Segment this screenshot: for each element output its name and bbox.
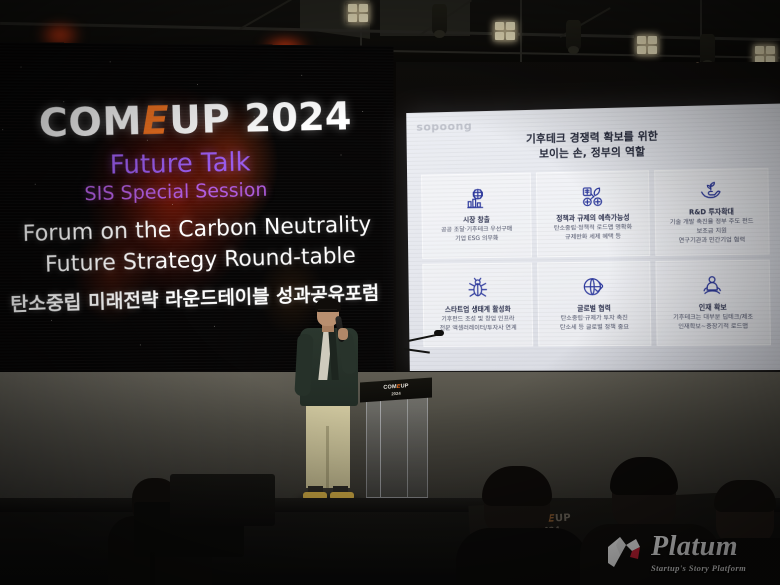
slide-card: 정책과 규제의 예측가능성 탄소중립·정책적 로드맵 명확화 규제완화 세제 혜… [536,170,650,257]
comeup-logo-accent-letter: E [141,98,169,144]
slide-card: 글로벌 협력 탄소중립·규제가 투자 촉진 탄소세 등 글로벌 정책 중요 [537,261,651,347]
slide-card-line: 규제완화 세제 혜택 등 [565,233,621,243]
slide-card-line: 전문 액셀러레이터/투자사 연계 [440,324,517,333]
stage-light [752,44,778,62]
person-talent-icon [701,273,724,298]
slide-card-title: 정책과 규제의 예측가능성 [556,212,629,223]
audience-member [460,470,580,585]
slide-card-line: 탄소세 등 글로벌 정책 중요 [560,323,629,332]
comeup-logo-prefix: COM [38,99,142,147]
forum-title-line-2: Future Strategy Round-table [45,244,356,278]
stage-scene: COMEUP 2024 Future Talk SIS Special Sess… [0,0,780,585]
forum-title-line-1: Forum on the Carbon Neutrality [22,212,371,247]
slide-card-line: 인재확보~중장기적 로드맵 [678,322,748,332]
slide-card: R&D 투자확대 기술 개발 촉진을 정부 주도 펀드 보조금 지원 연구기관과… [654,168,770,256]
presentation-screen: sopoong 기후테크 경쟁력 확보를 위한 보이는 손, 정부의 역할 [406,104,780,371]
tripod-leg [150,552,155,585]
comeup-logo-year: 2024 [244,95,352,142]
slide-card-title: 스타트업 생태계 활성화 [445,303,511,314]
future-talk-title: Future Talk [109,147,251,180]
slide-card-title: 시장 창출 [463,214,490,224]
camera-monitor-box [170,474,275,526]
podium-plate-suffix: UP [401,383,409,390]
podium-plate-prefix: COM [383,384,396,391]
slide-card-line: 보조금 지원 [696,227,727,237]
platum-logo-icon [606,533,646,573]
policy-regulation-icon [581,185,604,210]
platum-watermark: Platum Startup's Story Platform [606,529,772,577]
seedling-hand-icon [699,178,722,203]
platum-tagline: Startup's Story Platform [651,564,746,573]
moving-head-light [432,4,447,34]
moving-head-light [700,34,715,62]
slide-card-line: 탄소중립·규제가 투자 촉진 [561,314,628,323]
slide-card-grid: 시장 창출 공공 조달·기후테크 우선구매 기업 ESG 의무화 [421,168,771,347]
comeup-logo-suffix: UP [169,97,231,143]
slide-card-title: 글로벌 협력 [577,302,611,312]
platum-wordmark: Platum [651,533,746,561]
slide-card-line: 연구기관과 민간기업 협력 [679,236,746,246]
sopoong-logo: sopoong [416,119,472,133]
stage-light [345,2,371,24]
startup-bug-icon [466,276,489,300]
moving-head-light [566,20,581,50]
slide-card-line: 기업 ESG 의무화 [455,235,498,245]
slide-card: 인재 확보 기후테크는 대부분 딥테크/제조 인재확보~중장기적 로드맵 [655,259,771,346]
slide-card: 시장 창출 공공 조달·기후테크 우선구매 기업 ESG 의무화 [421,173,532,259]
stage-light [492,20,518,42]
eyeglasses-icon [318,309,337,314]
globe-handshake-icon [582,275,605,300]
comeup-logo: COMEUP 2024 [38,95,339,147]
sis-special-session-subtitle: SIS Special Session [84,179,267,205]
podium-microphone [434,330,444,336]
slide-card-title: R&D 투자확대 [689,205,734,216]
podium-plate-year: 2024 [391,391,400,396]
slide-card-title: 인재 확보 [699,301,727,311]
market-chart-icon [465,187,487,212]
stage-light [634,34,660,56]
